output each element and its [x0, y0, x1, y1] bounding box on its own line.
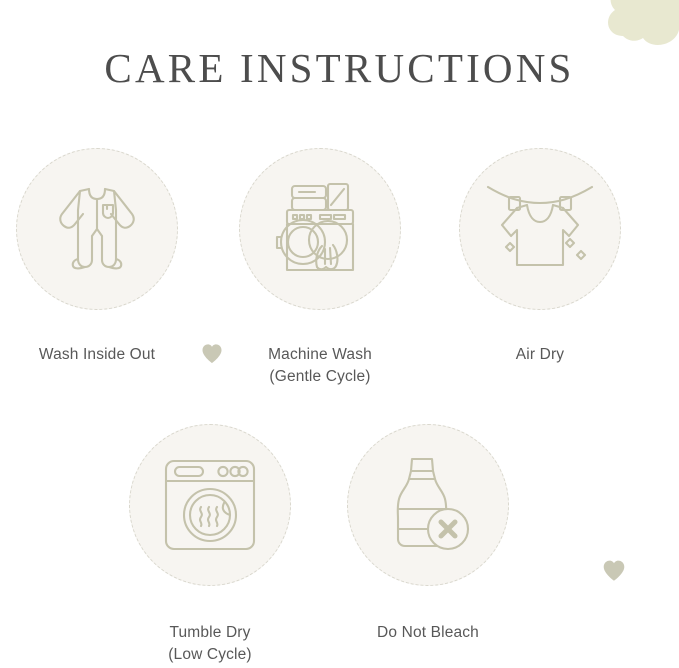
care-label-tumble-dry: Tumble Dry (Low Cycle) — [120, 622, 300, 666]
heart-icon — [601, 558, 627, 589]
clothesline-tshirt-icon — [484, 173, 596, 285]
page-title: CARE INSTRUCTIONS — [0, 44, 679, 92]
care-icon-circle-air-dry — [459, 148, 621, 310]
care-label-do-not-bleach: Do Not Bleach — [338, 622, 518, 644]
heart-icon — [200, 342, 224, 371]
care-icon-circle-do-not-bleach — [347, 424, 509, 586]
washing-machine-icon — [265, 174, 375, 284]
baby-onesie-icon — [42, 174, 152, 284]
label-line: (Low Cycle) — [120, 644, 300, 666]
label-line: Tumble Dry — [120, 622, 300, 644]
care-icon-circle-wash-inside-out — [16, 148, 178, 310]
care-label-machine-wash: Machine Wash (Gentle Cycle) — [231, 344, 409, 388]
tumble-dryer-icon — [158, 453, 262, 557]
care-instructions-card: CARE INSTRUCTIONS Wash — [0, 0, 679, 668]
label-line: (Gentle Cycle) — [231, 366, 409, 388]
label-line: Do Not Bleach — [338, 622, 518, 644]
care-icon-circle-machine-wash — [239, 148, 401, 310]
label-line: Air Dry — [451, 344, 629, 366]
care-label-wash-inside-out: Wash Inside Out — [7, 344, 187, 366]
no-bleach-bottle-icon — [376, 453, 480, 557]
label-line: Machine Wash — [231, 344, 409, 366]
label-line: Wash Inside Out — [7, 344, 187, 366]
care-label-air-dry: Air Dry — [451, 344, 629, 366]
care-icon-circle-tumble-dry — [129, 424, 291, 586]
